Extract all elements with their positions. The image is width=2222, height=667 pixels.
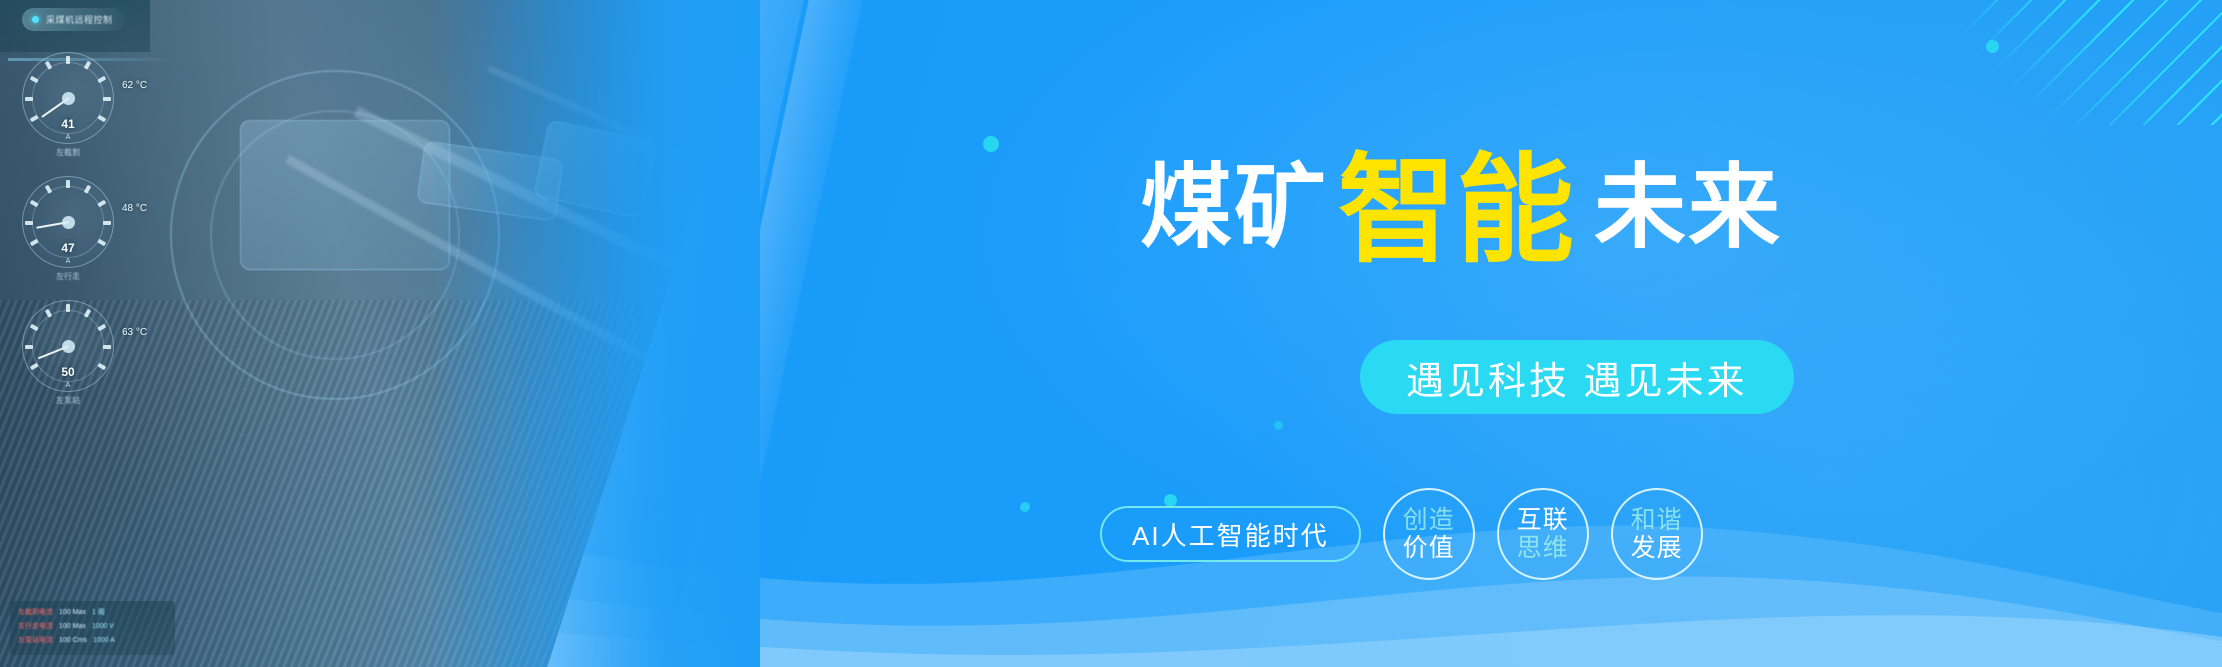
gauge-label: 左行走: [23, 271, 113, 282]
gauge-unit: A: [23, 258, 113, 265]
readout-value: 100 Max: [59, 609, 86, 616]
badge-circle-harmony[interactable]: 和谐 发展: [1611, 488, 1703, 580]
banner-content: 煤矿智能未来 遇见科技 遇见未来 AI人工智能时代 创造 价值 互联 思维 和谐…: [1080, 0, 2222, 667]
gauge-dial: 50 A 左泵站: [22, 300, 114, 392]
gauge-dial: 41 A 左截割: [22, 52, 114, 144]
hud-title-label: 采煤机远程控制: [46, 13, 113, 26]
gauge-temperature: 63 °C: [122, 327, 147, 338]
title-highlight: 智能: [1338, 145, 1574, 277]
dot-decoration: [983, 136, 999, 152]
readout-extra: 1000 V: [92, 623, 114, 630]
readout-value: 100 Max: [59, 623, 86, 630]
hud-title-pill: 采煤机远程控制: [22, 8, 125, 31]
photo-edge-fade: [430, 0, 760, 667]
readout-extra: 1000 A: [93, 637, 115, 644]
badge-ai-era[interactable]: AI人工智能时代: [1100, 506, 1361, 562]
readout-key: 左行走电流: [18, 621, 53, 631]
status-led-icon: [32, 16, 39, 23]
gauge-unit: A: [23, 134, 113, 141]
table-row: 左泵站电流 100 Cms 1000 A: [18, 635, 167, 645]
table-row: 左截割电流 100 Max 1 阁: [18, 607, 167, 617]
badge-circle-value[interactable]: 创造 价值: [1383, 488, 1475, 580]
gauge-label: 左截割: [23, 147, 113, 158]
page-title: 煤矿智能未来: [1140, 140, 1782, 258]
gauge-value: 41: [23, 117, 113, 131]
badge-line-2: 思维: [1517, 534, 1569, 562]
gauge-unit: A: [23, 382, 113, 389]
badge-circle-thinking[interactable]: 互联 思维: [1497, 488, 1589, 580]
badge-line-2: 价值: [1403, 534, 1455, 562]
dot-decoration: [1020, 502, 1030, 512]
promo-banner: 采煤机远程控制 41 A 左截割 62 °C: [0, 0, 2222, 667]
subtitle-pill: 遇见科技 遇见未来: [1360, 340, 1794, 414]
gauge-value: 50: [23, 365, 113, 379]
readout-extra: 1 阁: [92, 607, 105, 617]
readout-key: 左泵站电流: [18, 635, 53, 645]
badge-line-1: 互联: [1517, 506, 1569, 534]
badge-row: AI人工智能时代 创造 价值 互联 思维 和谐 发展: [1100, 488, 1703, 580]
gauge-dial: 47 A 左行走: [22, 176, 114, 268]
readout-key: 左截割电流: [18, 607, 53, 617]
title-post: 未来: [1594, 157, 1782, 259]
gauge-temperature: 48 °C: [122, 203, 147, 214]
title-pre: 煤矿: [1140, 157, 1328, 259]
hud-readout-table: 左截割电流 100 Max 1 阁 左行走电流 100 Max 1000 V 左…: [10, 601, 175, 655]
table-row: 左行走电流 100 Max 1000 V: [18, 621, 167, 631]
badge-line-2: 发展: [1631, 534, 1683, 562]
readout-value: 100 Cms: [59, 637, 87, 644]
mining-photo: 采煤机远程控制 41 A 左截割 62 °C: [0, 0, 760, 667]
gauge-value: 47: [23, 241, 113, 255]
gauge-label: 左泵站: [23, 395, 113, 406]
gauge-temperature: 62 °C: [122, 80, 147, 91]
badge-line-1: 创造: [1403, 506, 1455, 534]
badge-line-1: 和谐: [1631, 506, 1683, 534]
